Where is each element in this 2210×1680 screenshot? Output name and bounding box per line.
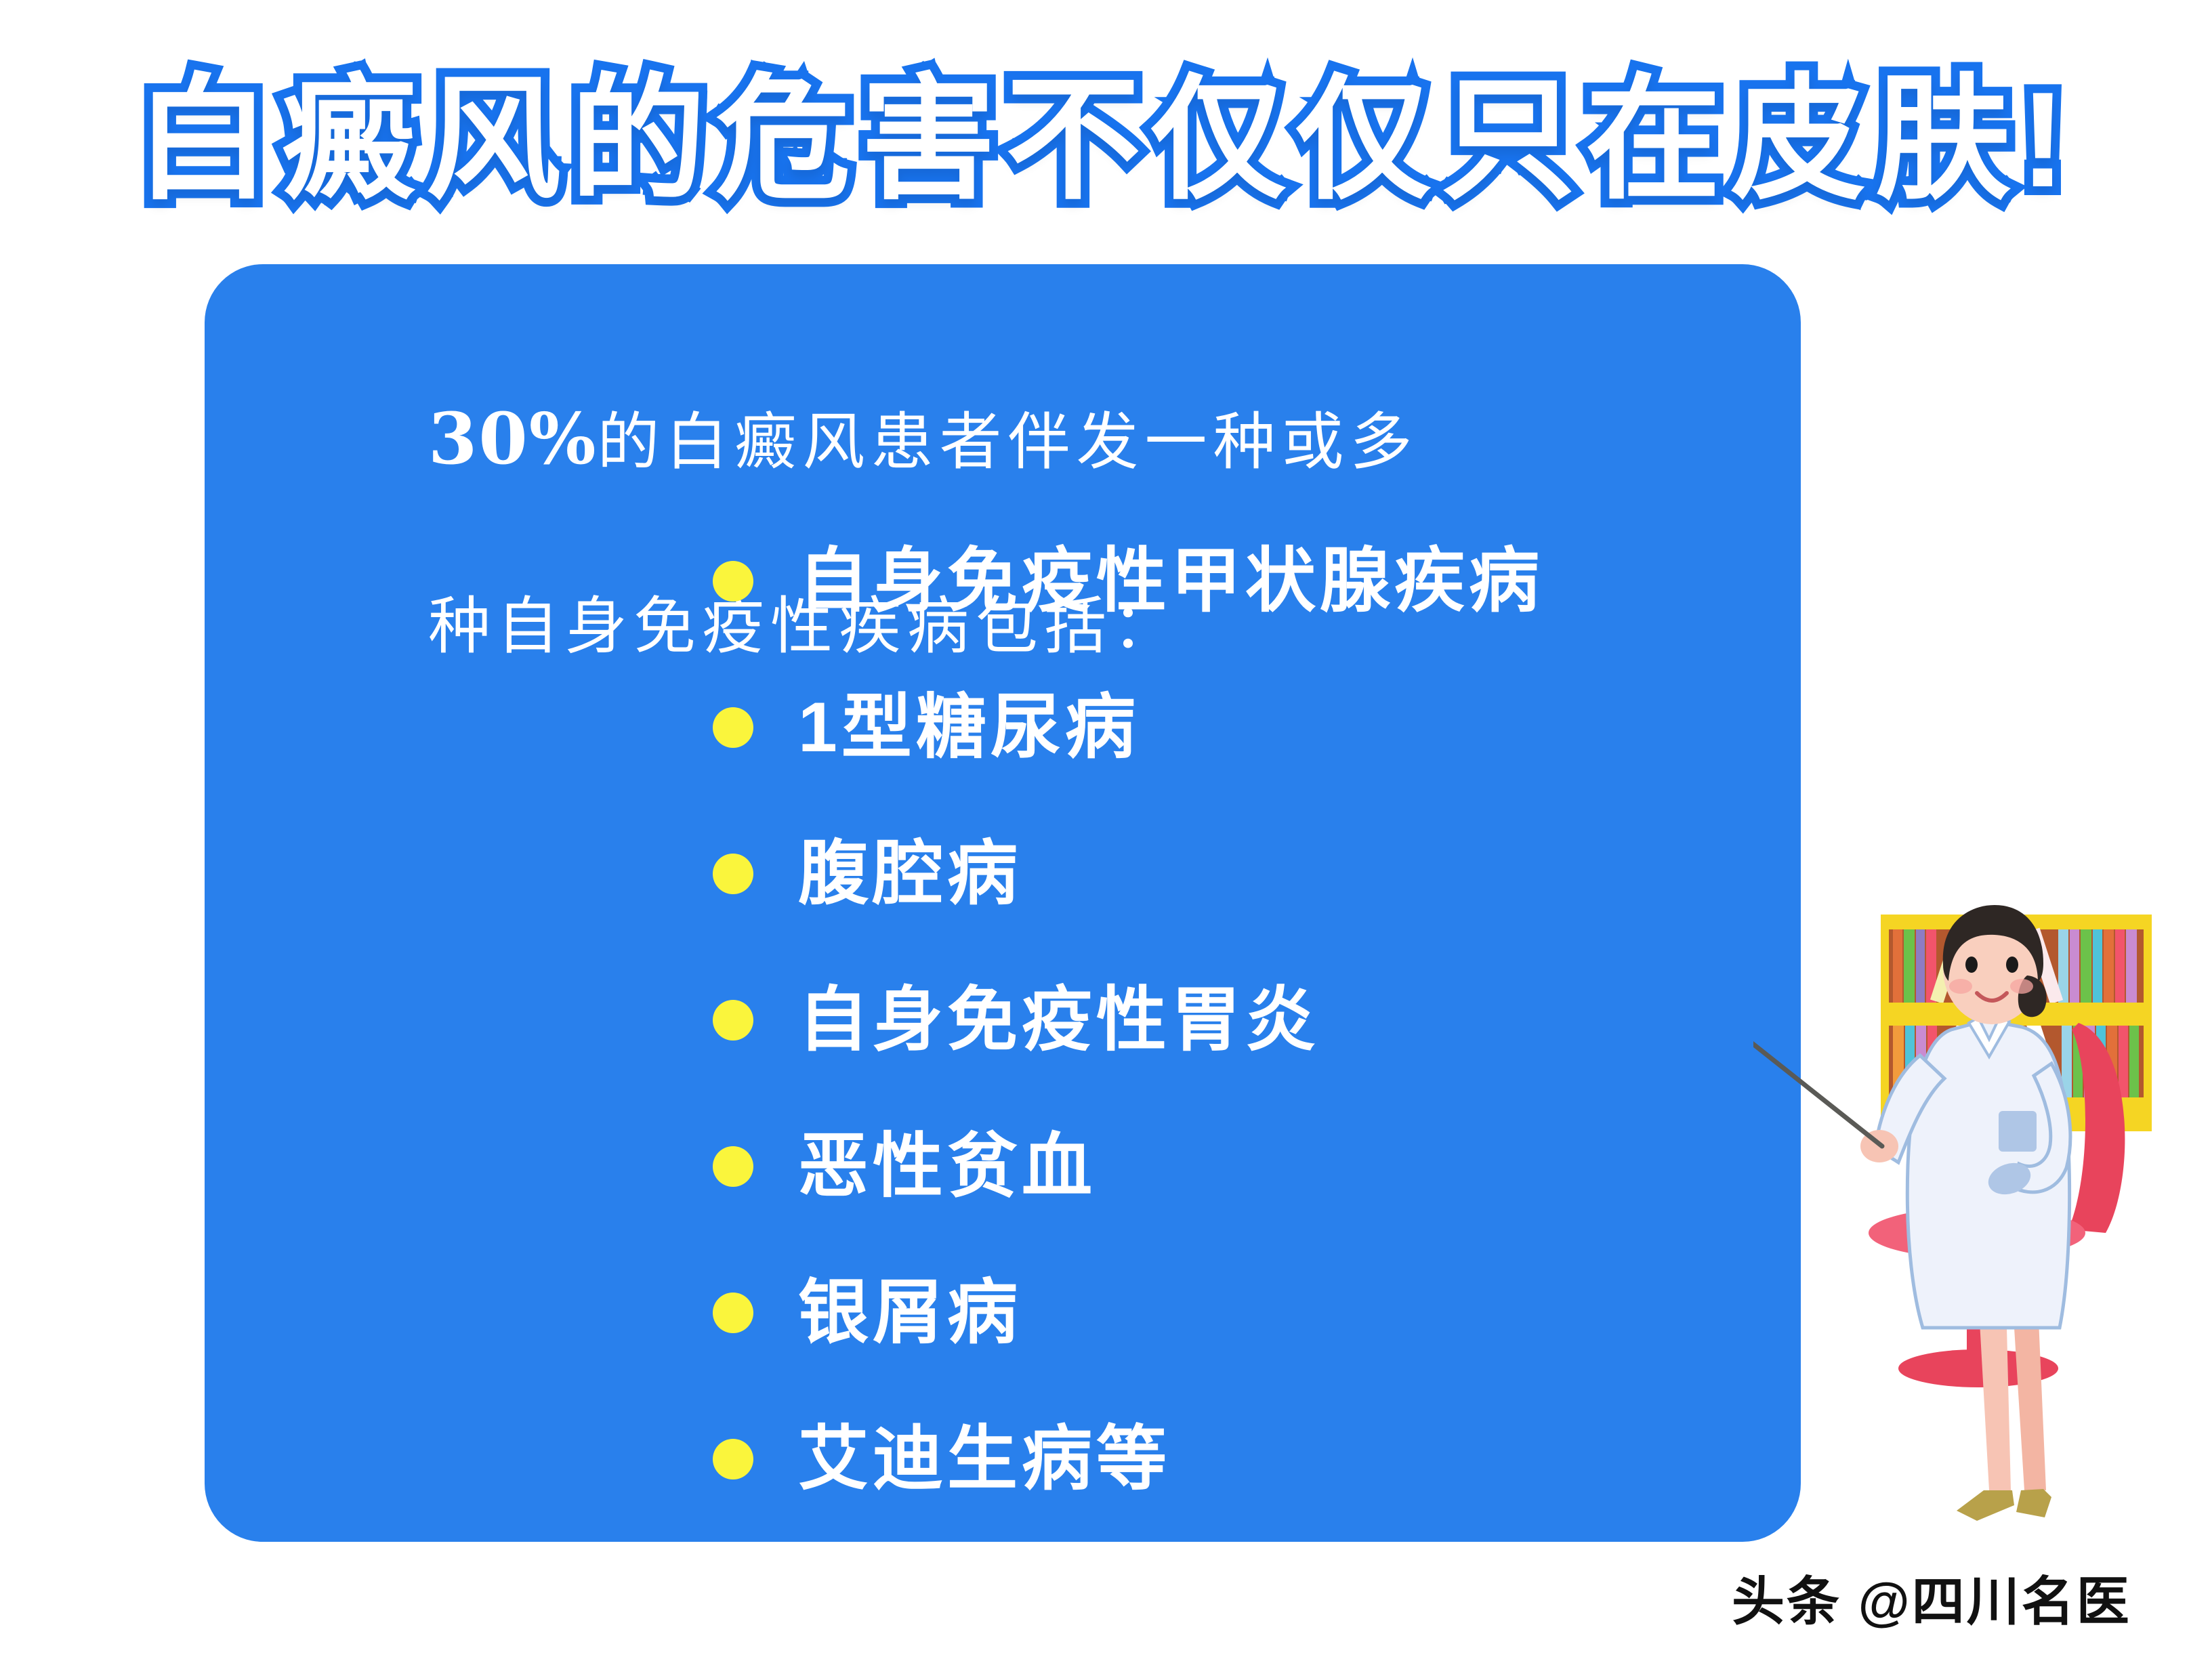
intro-line-1: 30%的白癜风患者伴发一种或多 xyxy=(428,406,1419,478)
list-item[interactable]: 腹腔病 xyxy=(272,801,1729,947)
bullet-dot-icon xyxy=(713,1146,753,1187)
list-item[interactable]: 恶性贫血 xyxy=(272,1093,1729,1240)
list-item[interactable]: 1型糖尿病 xyxy=(272,654,1729,801)
doctor-illustration xyxy=(1753,894,2210,1612)
list-item-label: 恶性贫血 xyxy=(798,1131,1096,1202)
bullet-dot-icon xyxy=(713,561,753,602)
page-title: 白癜风的危害不仅仅只在皮肤! xyxy=(135,62,1965,218)
list-item-label: 腹腔病 xyxy=(798,839,1022,909)
intro-percent: 30% xyxy=(428,397,598,480)
bullet-dot-icon xyxy=(713,854,753,894)
disease-list: 自身免疫性甲状腺疾病 1型糖尿病 腹腔病 自身免疫性胃炎 恶性贫血 银屑病 艾迪… xyxy=(272,508,1729,1532)
bullet-dot-icon xyxy=(713,707,753,748)
list-item-label: 艾迪生病等 xyxy=(798,1424,1171,1494)
content-panel: 30%的白癜风患者伴发一种或多 种自身免疫性疾病包括： 自身免疫性甲状腺疾病 1… xyxy=(205,264,1801,1542)
list-item[interactable]: 艾迪生病等 xyxy=(272,1386,1729,1532)
list-item-label: 1型糖尿病 xyxy=(798,692,1140,763)
list-item-label: 自身免疫性甲状腺疾病 xyxy=(798,546,1543,616)
list-item-label: 自身免疫性胃炎 xyxy=(798,985,1320,1055)
bullet-dot-icon xyxy=(713,1439,753,1479)
list-item[interactable]: 银屑病 xyxy=(272,1240,1729,1386)
watermark-text: 头条 @四川名医 xyxy=(1732,1559,2131,1635)
list-item-label: 银屑病 xyxy=(798,1278,1022,1348)
pointer-stick-icon xyxy=(1753,894,1882,1146)
intro-line-1-rest: 的白癜风患者伴发一种或多 xyxy=(598,406,1419,478)
list-item[interactable]: 自身免疫性甲状腺疾病 xyxy=(272,508,1729,654)
bullet-dot-icon xyxy=(713,1293,753,1333)
bullet-dot-icon xyxy=(713,1000,753,1041)
list-item[interactable]: 自身免疫性胃炎 xyxy=(272,947,1729,1093)
